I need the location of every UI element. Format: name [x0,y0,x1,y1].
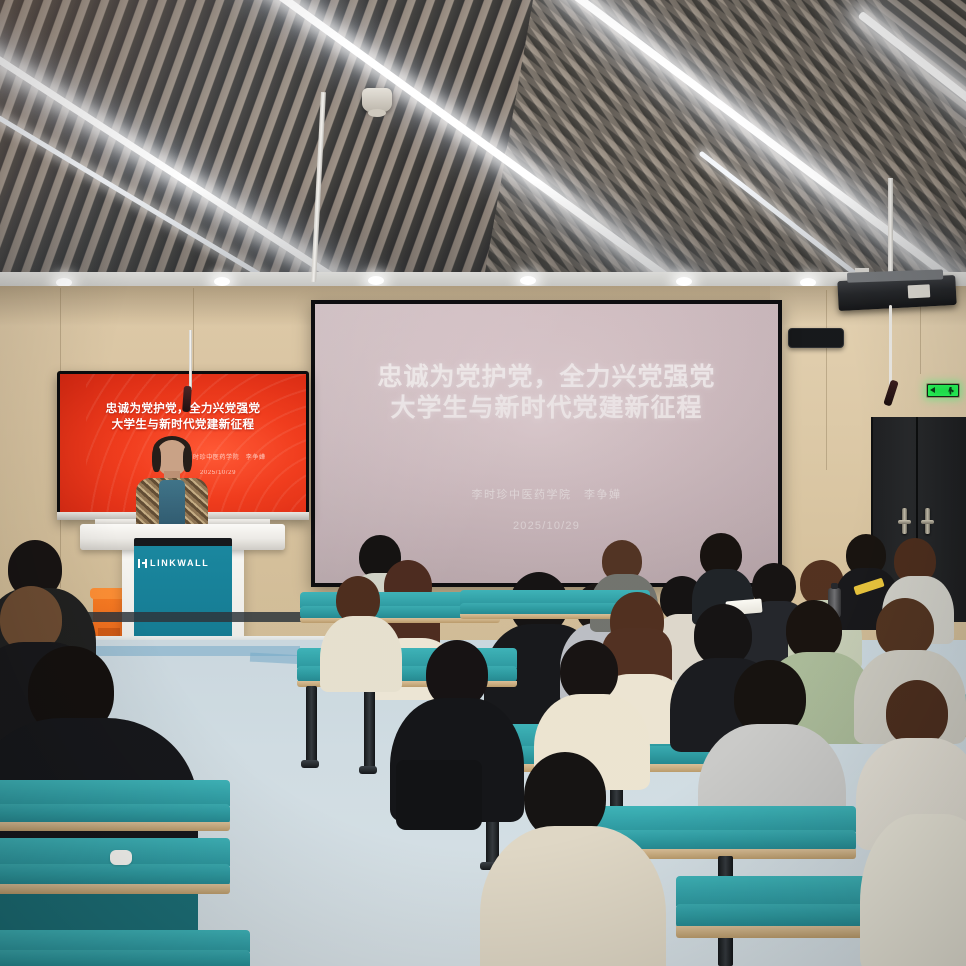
desk-wood-edge [0,822,230,831]
exit-sign [926,383,960,398]
downlight [368,276,384,285]
lectern-brand-label: LINKWALL [150,558,209,568]
desk-surface [0,950,250,966]
wall-speaker-icon [788,328,844,348]
slide-date: 2025/10/29 [315,520,778,532]
empty-desk-row[interactable] [0,838,230,900]
backpack[interactable] [396,760,482,830]
downlight [520,276,536,285]
tv-slide-title-line-2: 大学生与新时代党建新征程 [60,418,306,434]
door-handle[interactable] [925,508,930,534]
slide-title-line-2: 大学生与新时代党建新征程 [315,393,778,424]
door-handle[interactable] [902,508,907,534]
desk-leg-foot [359,766,377,774]
projector-label [908,284,931,298]
downlight [676,277,692,286]
student-head [694,604,752,666]
desk-apron [0,894,198,934]
linkwall-logo-icon [138,559,147,568]
projector-cable [889,305,892,387]
empty-desk-row[interactable] [0,780,230,836]
microphone-hanger-pole [189,330,192,390]
presenter [130,440,214,532]
empty-desk-row[interactable] [0,930,250,966]
student-head [876,598,934,658]
student-head [560,640,618,702]
exit-sign-glow [928,385,958,396]
lectern-brand: LINKWALL [138,558,230,568]
desk-wood-edge [0,884,230,894]
student-top [320,616,402,692]
student [860,790,966,966]
downlight [214,277,230,286]
student [326,576,392,676]
student [496,752,646,966]
wall-panel-seam [826,290,827,470]
ceiling [0,0,966,300]
slide-organization: 李时珍中医药学院 李争嬅 [315,486,778,502]
ceiling-smoke-detector-icon [362,88,392,112]
desk-surface [0,804,230,824]
running-man-icon [948,387,954,395]
tissue-on-desk[interactable] [110,850,132,865]
student-head [886,680,948,746]
presenter-hair-right [183,446,192,472]
ceiling-shading [0,0,966,300]
lecture-hall-photo: 忠诚为党护党，全力兴党强党 大学生与新时代党建新征程 李时珍中医药学院 李争嬅 … [0,0,966,966]
desk-surface [0,864,230,886]
ceiling-projector-icon [837,275,956,311]
exit-arrow-icon [930,387,935,393]
desk-backrest [0,930,250,952]
desk-leg-foot [301,760,319,768]
slide-title-line-1: 忠诚为党护党，全力兴党强党 [315,362,778,393]
desk-leg [306,686,317,764]
slide-title: 忠诚为党护党，全力兴党强党 大学生与新时代党建新征程 [315,362,778,423]
ceiling-hanger-rod [888,178,893,274]
student-top [480,826,666,966]
desk-backrest [0,780,230,806]
desk-leg [364,686,375,770]
presenter-hair-left [152,446,161,472]
student-head [786,600,842,660]
student-top [860,814,966,966]
